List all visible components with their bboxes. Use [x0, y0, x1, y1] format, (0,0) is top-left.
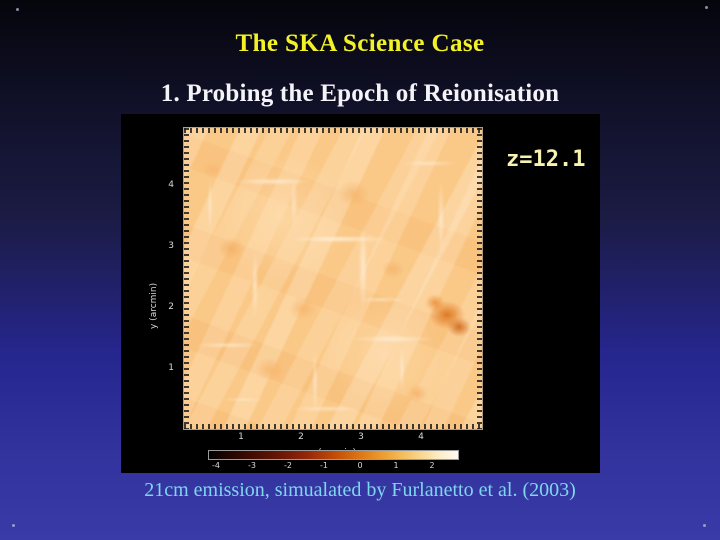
x-axis-tick: 1: [231, 432, 251, 442]
corner-speck-top-right: [705, 6, 708, 9]
slide-title: The SKA Science Case: [0, 30, 720, 58]
colorbar-tick: -4: [207, 461, 225, 470]
figure-panel: y (arcmin) x (arcmin) z=12.1: [121, 114, 600, 473]
x-axis-tick: 4: [411, 432, 431, 442]
colorbar-tick: -3: [243, 461, 261, 470]
colorbar-tick: -2: [279, 461, 297, 470]
x-axis-tick: 2: [291, 432, 311, 442]
simulation-image: [183, 127, 483, 430]
y-axis-tick: 2: [154, 302, 174, 312]
y-axis-tick: 3: [154, 241, 174, 251]
colorbar-gradient: [208, 450, 459, 460]
y-axis-tick: 1: [154, 363, 174, 373]
colorbar-tick: -1: [315, 461, 333, 470]
slide-subtitle: 1. Probing the Epoch of Reionisation: [0, 80, 720, 108]
colorbar-container: [208, 450, 459, 460]
corner-speck-bottom-right: [703, 524, 706, 527]
colorbar-tick: 2: [423, 461, 441, 470]
corner-speck-top-left: [16, 8, 19, 11]
corner-speck-bottom-left: [12, 524, 15, 527]
redshift-annotation: z=12.1: [506, 147, 585, 172]
reionisation-heatmap: [183, 127, 483, 430]
y-axis-tick: 4: [154, 180, 174, 190]
colorbar-tick: 0: [351, 461, 369, 470]
figure-caption: 21cm emission, simualated by Furlanetto …: [0, 479, 720, 502]
colorbar-tick: 1: [387, 461, 405, 470]
x-axis-tick: 3: [351, 432, 371, 442]
slide-canvas: The SKA Science Case 1. Probing the Epoc…: [0, 0, 720, 540]
